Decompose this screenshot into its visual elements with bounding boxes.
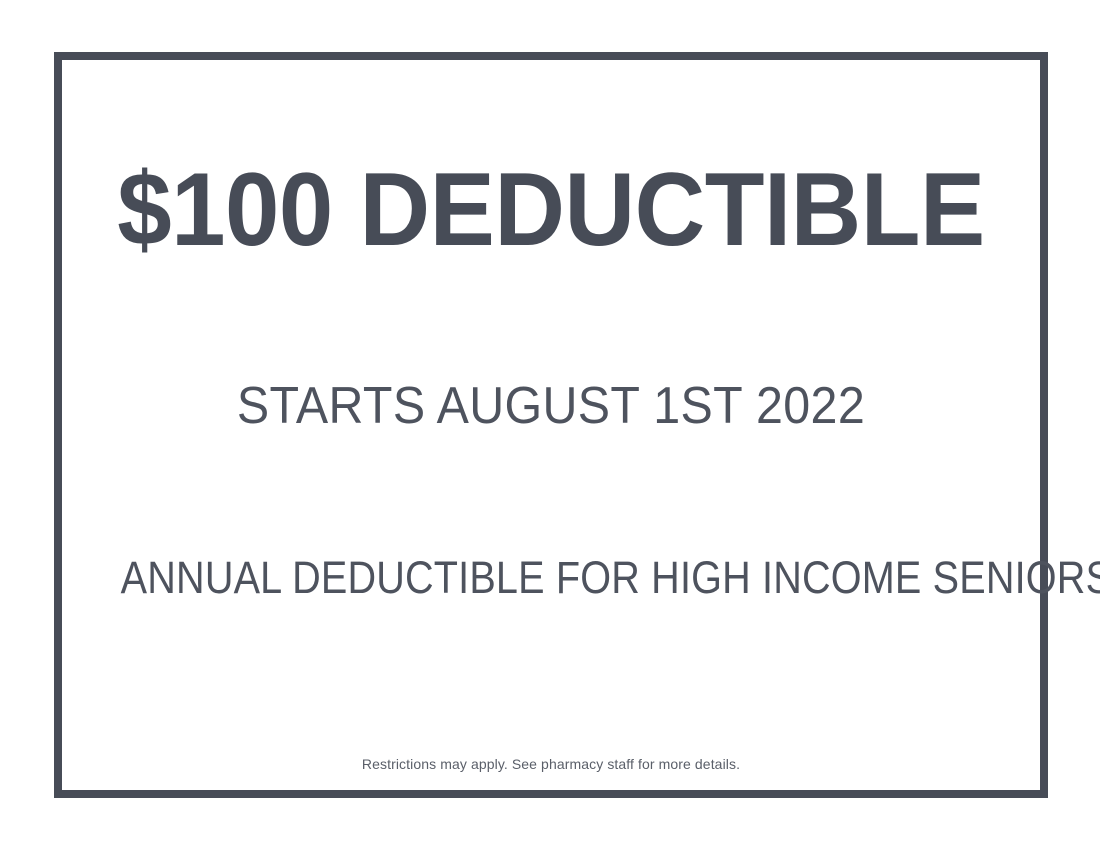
sign-canvas: $100 DEDUCTIBLE STARTS AUGUST 1ST 2022 A… xyxy=(0,0,1100,850)
headline-deductible-amount: $100 DEDUCTIBLE xyxy=(91,156,1010,265)
tagline-description: ANNUAL DEDUCTIBLE FOR HIGH INCOME SENIOR… xyxy=(121,552,982,604)
disclaimer-fine-print: Restrictions may apply. See pharmacy sta… xyxy=(62,755,1040,773)
sign-frame-border: $100 DEDUCTIBLE STARTS AUGUST 1ST 2022 A… xyxy=(54,52,1048,798)
subtitle-start-date: STARTS AUGUST 1ST 2022 xyxy=(96,377,1006,437)
sign-content: $100 DEDUCTIBLE STARTS AUGUST 1ST 2022 A… xyxy=(62,60,1040,790)
